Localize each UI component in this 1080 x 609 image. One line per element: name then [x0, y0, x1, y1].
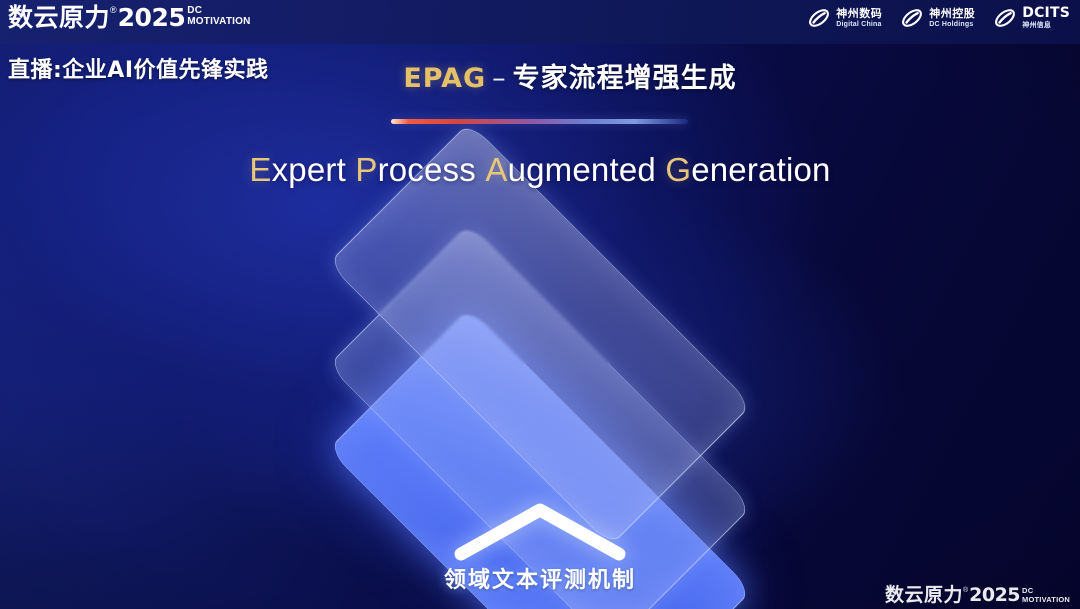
footer-brand-dc-label: DC: [1022, 587, 1070, 595]
partner-text-dcits: DCITS 神州信息: [1022, 6, 1070, 29]
brand-registered-mark: ®: [110, 6, 117, 15]
title-acronym: EPAG: [403, 63, 486, 94]
slide-canvas: 数云原力 ® 2025 DC MOTIVATION 直播:企业AI价值先锋实践 …: [0, 0, 1080, 609]
layer-stack-diagram: 领域文本评测机制 Dynamic MOE 长文本记忆 三类语义建模模块: [268, 228, 812, 568]
subtitle-rest-augmented: ugmented: [508, 151, 656, 188]
footer-brand-name-cn: 数云原力: [885, 586, 963, 605]
brand-logo: 数云原力 ® 2025 DC MOTIVATION: [8, 5, 251, 30]
partner-name-en: Digital China: [836, 21, 882, 28]
subtitle-cap-a: A: [485, 151, 507, 188]
footer-brand-logo: 数云原力 ® 2025 DC MOTIVATION: [885, 586, 1070, 605]
subtitle-rest-process: rocess: [378, 151, 476, 188]
subtitle-cap-g: G: [665, 151, 691, 188]
footer-brand-motivation-label: MOTIVATION: [1022, 596, 1070, 604]
partner-logo-dc-holdings: 神州控股 DC Holdings: [900, 6, 975, 30]
brand-motivation-label: MOTIVATION: [187, 17, 250, 27]
subtitle-word-expert: Expert: [249, 151, 346, 188]
partner-text-dc-holdings: 神州控股 DC Holdings: [929, 8, 975, 28]
brand-dc-label: DC: [187, 6, 250, 16]
partner-name-en: DC Holdings: [929, 21, 975, 28]
partner-logos: 神州数码 Digital China 神州控股 DC Holdings: [807, 6, 1070, 30]
swirl-logo-icon: [807, 6, 831, 30]
subtitle-space-1: [346, 151, 355, 188]
footer-brand-registered-mark: ®: [963, 587, 968, 594]
partner-logo-dcits: DCITS 神州信息: [993, 6, 1070, 30]
subtitle-word-process: Process: [355, 151, 476, 188]
subtitle-rest-expert: xpert: [272, 151, 346, 188]
title-chinese: 专家流程增强生成: [513, 63, 737, 94]
subtitle-word-augmented: Augmented: [485, 151, 656, 188]
partner-name-cn: DCITS: [1022, 6, 1070, 21]
live-broadcast-title: 直播:企业AI价值先锋实践: [8, 52, 269, 84]
subtitle-cap-p: P: [355, 151, 377, 188]
partner-name-en: 神州信息: [1022, 22, 1070, 29]
footer-brand-year: 2025: [969, 586, 1020, 605]
brand-name-cn: 数云原力: [8, 5, 110, 30]
brand-year: 2025: [118, 5, 186, 30]
subtitle-word-generation: Generation: [665, 151, 830, 188]
subtitle-cap-e: E: [249, 151, 271, 188]
swirl-logo-icon: [993, 6, 1017, 30]
page-subtitle: Expert Process Augmented Generation: [0, 151, 1080, 189]
partner-text-digital-china: 神州数码 Digital China: [836, 8, 882, 28]
subtitle-space-3: [656, 151, 665, 188]
partner-name-cn: 神州数码: [836, 8, 882, 20]
subtitle-rest-generation: eneration: [691, 151, 830, 188]
footer-brand-dc-motivation: DC MOTIVATION: [1022, 587, 1070, 603]
swirl-logo-icon: [900, 6, 924, 30]
title-dash: –: [492, 63, 507, 94]
diagram-layer-top-label: 领域文本评测机制: [268, 562, 812, 594]
gradient-divider: [391, 119, 688, 124]
brand-dc-motivation: DC MOTIVATION: [187, 6, 250, 27]
subtitle-space-2: [476, 151, 485, 188]
partner-logo-digital-china: 神州数码 Digital China: [807, 6, 882, 30]
partner-name-cn: 神州控股: [929, 8, 975, 20]
